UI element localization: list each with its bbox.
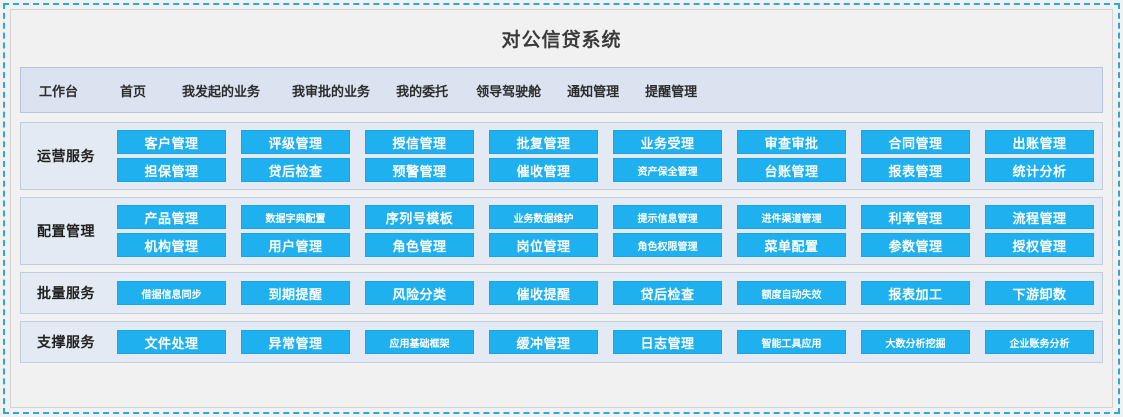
menu-tile[interactable]: 机构管理 [117,233,226,257]
menu-tile[interactable]: 资产保全管理 [613,158,722,182]
page-container: 对公信贷系统 工作台首页我发起的业务我审批的业务我的委托领导驾驶舱通知管理提醒管… [10,9,1113,408]
section-grid-0: 客户管理评级管理授信管理批复管理业务受理审查审批合同管理出账管理担保管理贷后检查… [117,130,1094,182]
menu-tile[interactable]: 菜单配置 [737,233,846,257]
section-grid-3: 文件处理异常管理应用基础框架缓冲管理日志管理智能工具应用大数分析挖掘企业账务分析 [117,330,1094,354]
menu-tile[interactable]: 角色权限管理 [613,233,722,257]
menu-tile[interactable]: 额度自动失效 [737,281,846,305]
menu-tile[interactable]: 授信管理 [365,130,474,154]
menu-tile[interactable]: 风险分类 [365,281,474,305]
nav-item-1[interactable]: 首页 [120,81,146,100]
menu-tile[interactable]: 业务受理 [613,130,722,154]
grid-row: 客户管理评级管理授信管理批复管理业务受理审查审批合同管理出账管理 [117,130,1094,154]
nav-item-3[interactable]: 我审批的业务 [292,81,370,100]
nav-item-2[interactable]: 我发起的业务 [182,81,260,100]
grid-row: 产品管理数据字典配置序列号模板业务数据维护提示信息管理进件渠道管理利率管理流程管… [117,205,1094,229]
section-3: 支撑服务文件处理异常管理应用基础框架缓冲管理日志管理智能工具应用大数分析挖掘企业… [20,321,1103,363]
section-0: 运营服务客户管理评级管理授信管理批复管理业务受理审查审批合同管理出账管理担保管理… [20,122,1103,190]
menu-tile[interactable]: 批复管理 [489,130,598,154]
menu-tile[interactable]: 担保管理 [117,158,226,182]
menu-tile[interactable]: 报表加工 [861,281,970,305]
menu-tile[interactable]: 企业账务分析 [985,330,1094,354]
menu-tile[interactable]: 参数管理 [861,233,970,257]
menu-tile[interactable]: 角色管理 [365,233,474,257]
menu-tile[interactable]: 合同管理 [861,130,970,154]
title-bar: 对公信贷系统 [20,10,1103,67]
grid-row: 机构管理用户管理角色管理岗位管理角色权限管理菜单配置参数管理授权管理 [117,233,1094,257]
section-2: 批量服务借据信息同步到期提醒风险分类催收提醒贷后检查额度自动失效报表加工下游卸数 [20,272,1103,314]
menu-tile[interactable]: 利率管理 [861,205,970,229]
menu-tile[interactable]: 催收管理 [489,158,598,182]
menu-tile[interactable]: 客户管理 [117,130,226,154]
menu-tile[interactable]: 智能工具应用 [737,330,846,354]
menu-tile[interactable]: 预警管理 [365,158,474,182]
menu-tile[interactable]: 大数分析挖掘 [861,330,970,354]
section-label-0: 运营服务 [31,146,117,166]
main-navigation: 工作台首页我发起的业务我审批的业务我的委托领导驾驶舱通知管理提醒管理 [20,67,1103,113]
nav-item-4[interactable]: 我的委托 [396,81,448,100]
sections-host: 运营服务客户管理评级管理授信管理批复管理业务受理审查审批合同管理出账管理担保管理… [20,122,1103,399]
menu-tile[interactable]: 出账管理 [985,130,1094,154]
menu-tile[interactable]: 审查审批 [737,130,846,154]
nav-item-5[interactable]: 领导驾驶舱 [476,81,541,100]
menu-tile[interactable]: 异常管理 [241,330,350,354]
page-title: 对公信贷系统 [501,25,621,52]
menu-tile[interactable]: 借据信息同步 [117,281,226,305]
nav-item-0[interactable]: 工作台 [39,81,78,100]
menu-tile[interactable]: 流程管理 [985,205,1094,229]
section-grid-1: 产品管理数据字典配置序列号模板业务数据维护提示信息管理进件渠道管理利率管理流程管… [117,205,1094,257]
menu-tile[interactable]: 文件处理 [117,330,226,354]
menu-tile[interactable]: 催收提醒 [489,281,598,305]
section-label-2: 批量服务 [31,283,117,303]
menu-tile[interactable]: 用户管理 [241,233,350,257]
menu-tile[interactable]: 日志管理 [613,330,722,354]
menu-tile[interactable]: 岗位管理 [489,233,598,257]
grid-row: 担保管理贷后检查预警管理催收管理资产保全管理台账管理报表管理统计分析 [117,158,1094,182]
menu-tile[interactable]: 应用基础框架 [365,330,474,354]
menu-tile[interactable]: 数据字典配置 [241,205,350,229]
menu-tile[interactable]: 统计分析 [985,158,1094,182]
menu-tile[interactable]: 序列号模板 [365,205,474,229]
menu-tile[interactable]: 缓冲管理 [489,330,598,354]
section-1: 配置管理产品管理数据字典配置序列号模板业务数据维护提示信息管理进件渠道管理利率管… [20,197,1103,265]
app-root: 对公信贷系统 工作台首页我发起的业务我审批的业务我的委托领导驾驶舱通知管理提醒管… [0,0,1123,417]
section-grid-2: 借据信息同步到期提醒风险分类催收提醒贷后检查额度自动失效报表加工下游卸数 [117,281,1094,305]
menu-tile[interactable]: 产品管理 [117,205,226,229]
menu-tile[interactable]: 贷后检查 [241,158,350,182]
menu-tile[interactable]: 评级管理 [241,130,350,154]
menu-tile[interactable]: 业务数据维护 [489,205,598,229]
menu-tile[interactable]: 到期提醒 [241,281,350,305]
grid-row: 文件处理异常管理应用基础框架缓冲管理日志管理智能工具应用大数分析挖掘企业账务分析 [117,330,1094,354]
section-label-3: 支撑服务 [31,332,117,352]
section-label-1: 配置管理 [31,221,117,241]
menu-tile[interactable]: 进件渠道管理 [737,205,846,229]
grid-row: 借据信息同步到期提醒风险分类催收提醒贷后检查额度自动失效报表加工下游卸数 [117,281,1094,305]
nav-item-6[interactable]: 通知管理 [567,81,619,100]
menu-tile[interactable]: 贷后检查 [613,281,722,305]
menu-tile[interactable]: 授权管理 [985,233,1094,257]
menu-tile[interactable]: 提示信息管理 [613,205,722,229]
menu-tile[interactable]: 报表管理 [861,158,970,182]
menu-tile[interactable]: 下游卸数 [985,281,1094,305]
menu-tile[interactable]: 台账管理 [737,158,846,182]
nav-item-7[interactable]: 提醒管理 [645,81,697,100]
